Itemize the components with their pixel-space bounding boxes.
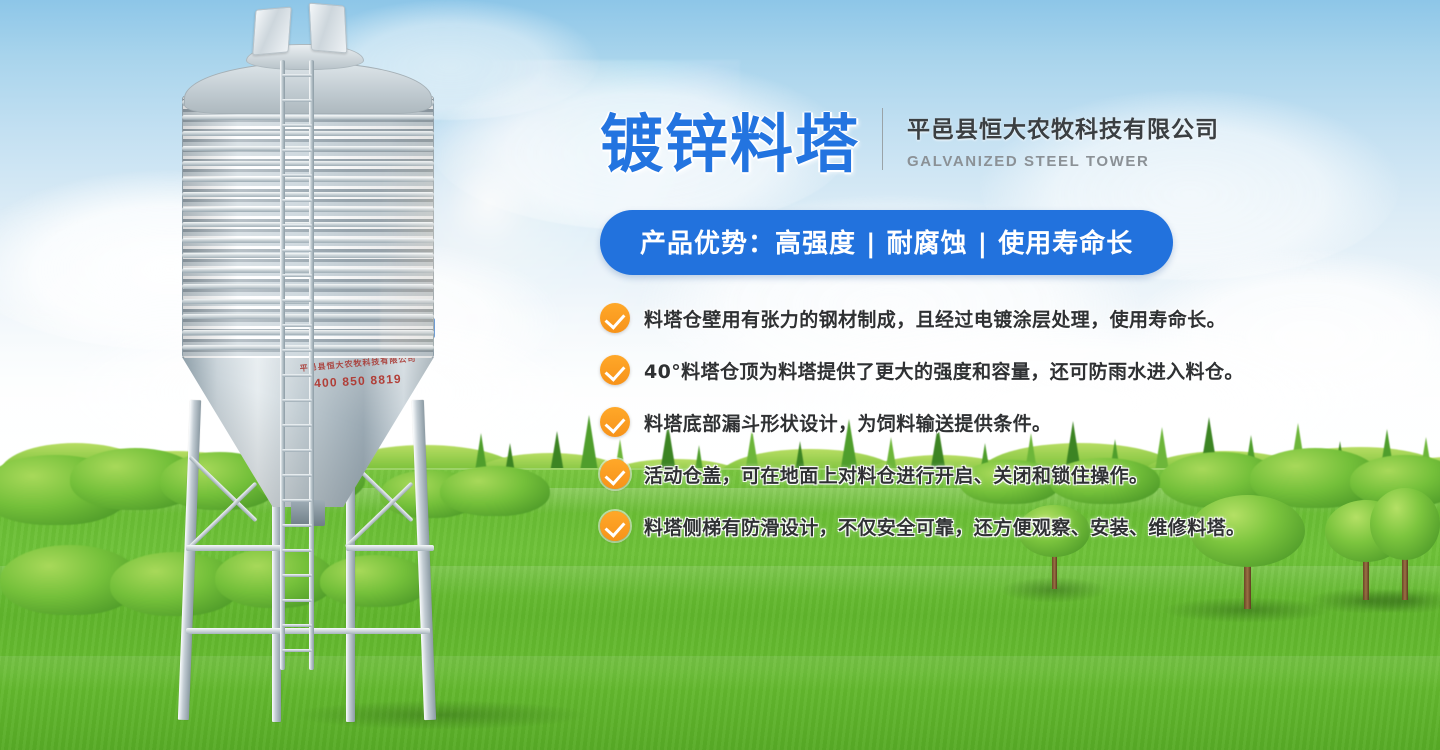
feature-list: 料塔仓壁用有张力的钢材制成，且经过电镀涂层处理，使用寿命长。40°料塔仓顶为料塔… [600, 303, 1300, 541]
feature-text: 料塔底部漏斗形状设计，为饲料输送提供条件。 [644, 409, 1051, 436]
feature-text: 40°料塔仓顶为料塔提供了更大的强度和容量，还可防雨水进入料仓。 [644, 357, 1244, 384]
feature-item: 活动仓盖，可在地面上对料仓进行开启、关闭和锁住操作。 [600, 459, 1300, 489]
silo-lid-flap [252, 7, 292, 56]
ladder-rung [282, 624, 312, 627]
company-name: 平邑县恒大农牧科技有限公司 [907, 110, 1219, 144]
ladder-rung [282, 649, 312, 652]
ladder-rung [282, 599, 312, 602]
ladder-rung [282, 474, 312, 477]
ladder-rung [282, 374, 312, 377]
ladder-rung [282, 299, 312, 302]
ladder-rung [282, 124, 312, 127]
feature-item: 40°料塔仓顶为料塔提供了更大的强度和容量，还可防雨水进入料仓。 [600, 355, 1300, 385]
ladder-rung [282, 549, 312, 552]
hero-banner: 平邑县恒大农牧科技有限公司 400 850 8819 镀锌料塔 平邑县恒大农牧科… [0, 0, 1440, 750]
company-subtitle-en: GALVANIZED STEEL TOWER [907, 153, 1219, 170]
advantages-banner: 产品优势：高强度 | 耐腐蚀 | 使用寿命长 [600, 210, 1173, 275]
silo-ground-shadow [290, 700, 590, 730]
ladder-rung [282, 349, 312, 352]
ladder-rung [282, 499, 312, 502]
silo-leg [178, 400, 201, 720]
silo-rail [346, 545, 434, 551]
check-circle-icon [600, 355, 630, 385]
ladder-rung [282, 449, 312, 452]
tree-crown [1370, 488, 1440, 560]
ladder-rung [282, 249, 312, 252]
ladder-rung [282, 74, 312, 77]
hero-content: 镀锌料塔 平邑县恒大农牧科技有限公司 GALVANIZED STEEL TOWE… [600, 108, 1300, 563]
lawn-tree [1370, 488, 1440, 600]
silo-ladder [280, 60, 314, 670]
ladder-rung [282, 399, 312, 402]
ladder-rung [282, 199, 312, 202]
check-circle-icon [600, 303, 630, 333]
check-circle-icon [600, 511, 630, 541]
feature-text: 料塔侧梯有防滑设计，不仅安全可靠，还方便观察、安装、维修料塔。 [644, 513, 1245, 540]
ladder-rung [282, 149, 312, 152]
ladder-rung [282, 174, 312, 177]
ladder-rung [282, 274, 312, 277]
page-title: 镀锌料塔 [600, 113, 860, 176]
check-circle-icon [600, 407, 630, 437]
feature-text: 料塔仓壁用有张力的钢材制成，且经过电镀涂层处理，使用寿命长。 [644, 305, 1226, 332]
feature-item: 料塔侧梯有防滑设计，不仅安全可靠，还方便观察、安装、维修料塔。 [600, 511, 1300, 541]
feature-text: 活动仓盖，可在地面上对料仓进行开启、关闭和锁住操作。 [644, 461, 1148, 488]
ladder-rung [282, 224, 312, 227]
ladder-rung [282, 574, 312, 577]
silo-leg [412, 400, 436, 720]
ladder-rung [282, 524, 312, 527]
ladder-rung [282, 99, 312, 102]
company-block: 平邑县恒大农牧科技有限公司 GALVANIZED STEEL TOWER [907, 110, 1219, 176]
title-divider [882, 108, 883, 170]
ladder-rung [282, 424, 312, 427]
silo-rail [186, 545, 282, 551]
silo-lid-flap [309, 3, 348, 54]
ladder-rung [282, 324, 312, 327]
feature-item: 料塔仓壁用有张力的钢材制成，且经过电镀涂层处理，使用寿命长。 [600, 303, 1300, 333]
check-circle-icon [600, 459, 630, 489]
feature-item: 料塔底部漏斗形状设计，为饲料输送提供条件。 [600, 407, 1300, 437]
title-block: 镀锌料塔 平邑县恒大农牧科技有限公司 GALVANIZED STEEL TOWE… [600, 108, 1300, 176]
feed-silo-image: 平邑县恒大农牧科技有限公司 400 850 8819 [150, 0, 530, 740]
